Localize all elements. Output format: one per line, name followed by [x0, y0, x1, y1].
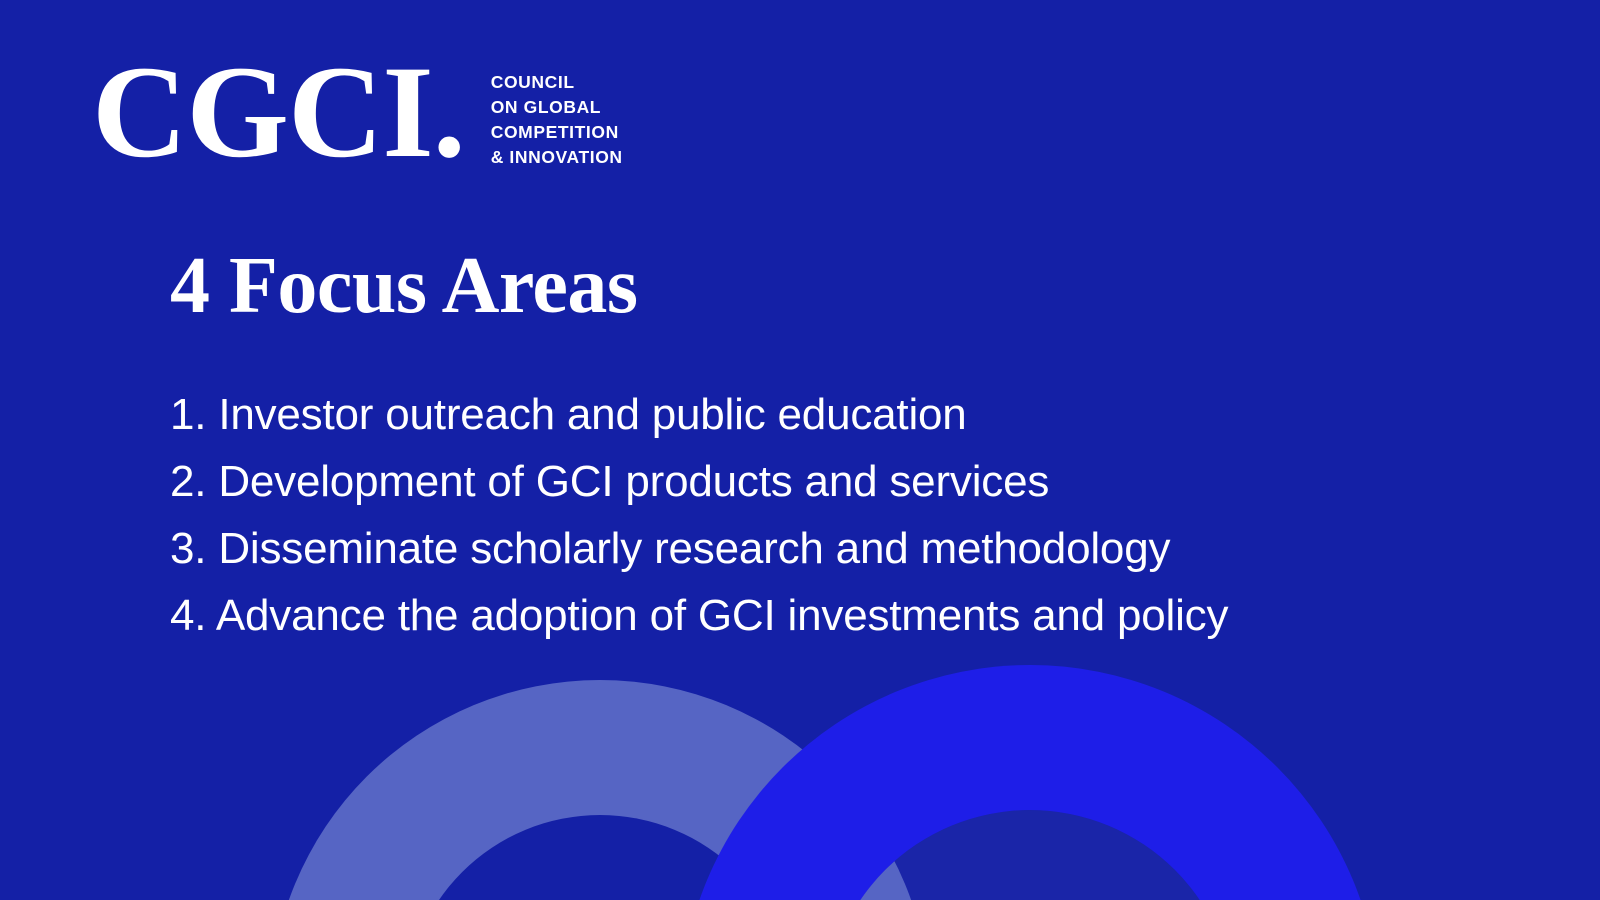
- cgci-logo: CGCI. COUNCIL ON GLOBAL COMPETITION & IN…: [92, 58, 623, 170]
- list-item: 4. Advance the adoption of GCI investmen…: [170, 582, 1228, 649]
- presentation-slide: CGCI. COUNCIL ON GLOBAL COMPETITION & IN…: [0, 0, 1600, 900]
- logo-tagline: COUNCIL ON GLOBAL COMPETITION & INNOVATI…: [491, 70, 623, 170]
- list-item: 1. Investor outreach and public educatio…: [170, 381, 1228, 448]
- list-item: 2. Development of GCI products and servi…: [170, 448, 1228, 515]
- logo-tagline-line-2: ON GLOBAL: [491, 95, 623, 120]
- logo-tagline-line-4: & INNOVATION: [491, 145, 623, 170]
- focus-areas-list: 1. Investor outreach and public educatio…: [170, 381, 1228, 649]
- periwinkle-ring-overlap: [825, 810, 1235, 900]
- logo-tagline-line-1: COUNCIL: [491, 70, 623, 95]
- list-item: 3. Disseminate scholarly research and me…: [170, 515, 1228, 582]
- slide-title: 4 Focus Areas: [170, 246, 638, 326]
- logo-wordmark: CGCI.: [92, 58, 465, 166]
- logo-tagline-line-3: COMPETITION: [491, 120, 623, 145]
- inner-navy-disc: [825, 810, 1235, 900]
